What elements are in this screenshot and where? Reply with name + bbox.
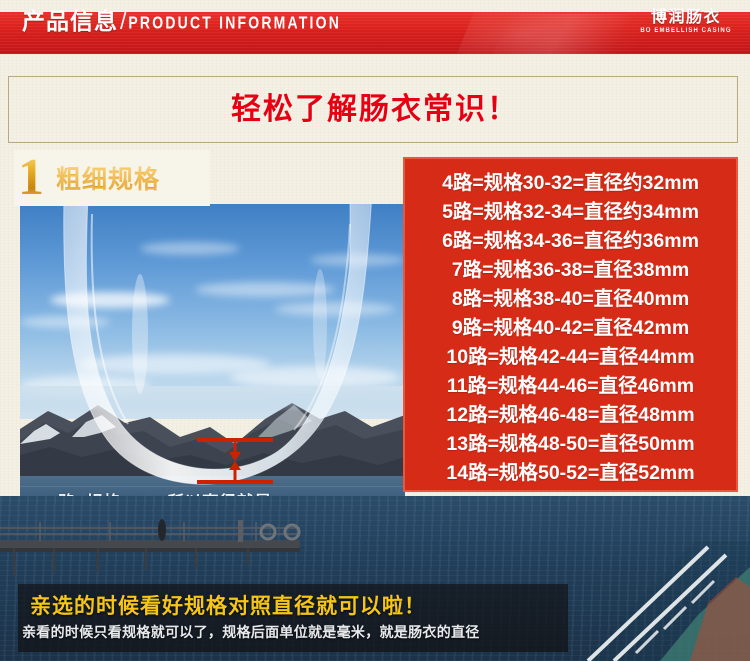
section-badge: 1 粗细规格 bbox=[14, 150, 210, 206]
specification-panel: 4路=规格30-32=直径约32mm 5路=规格32-34=直径约34mm 6路… bbox=[403, 157, 738, 492]
header-highlight-swoosh-secondary bbox=[489, 14, 630, 54]
brand-logo: 博润肠衣 BO EMBELLISH CASING bbox=[632, 3, 740, 39]
spec-row: 13路=规格48-50=直径50mm bbox=[405, 430, 736, 459]
header-title: 产品信息 / PRODUCT INFORMATION bbox=[22, 8, 341, 35]
spec-row: 14路=规格50-52=直径52mm bbox=[405, 459, 736, 488]
header-title-cn: 产品信息 bbox=[22, 8, 118, 34]
spec-row: 10路=规格42-44=直径44mm bbox=[405, 343, 736, 372]
bottom-subtext: 亲看的时候只看规格就可以了，规格后面单位就是毫米，就是肠衣的直径 bbox=[22, 622, 480, 642]
spec-row: 4路=规格30-32=直径约32mm bbox=[405, 169, 736, 198]
diameter-measurement-arrows bbox=[195, 435, 275, 487]
bottom-pier bbox=[0, 514, 360, 584]
spec-row: 11路=规格44-46=直径46mm bbox=[405, 372, 736, 401]
boat-railing bbox=[540, 541, 750, 661]
product-info-page: 产品信息 / PRODUCT INFORMATION 博润肠衣 BO EMBEL… bbox=[0, 0, 750, 661]
brand-logo-en: BO EMBELLISH CASING bbox=[640, 27, 731, 34]
spec-row: 9路=规格40-42=直径42mm bbox=[405, 314, 736, 343]
header-title-separator: / bbox=[120, 8, 126, 35]
header-title-en: PRODUCT INFORMATION bbox=[128, 12, 341, 32]
spec-row: 8路=规格38-40=直径40mm bbox=[405, 285, 736, 314]
bottom-headline: 亲选的时候看好规格对照直径就可以啦！ bbox=[30, 590, 426, 620]
page-title: 轻松了解肠衣常识！ bbox=[0, 84, 750, 128]
section-number: 1 bbox=[18, 152, 44, 204]
spec-row: 7路=规格36-38=直径38mm bbox=[405, 256, 736, 285]
spec-row: 5路=规格32-34=直径约34mm bbox=[405, 198, 736, 227]
section-label: 粗细规格 bbox=[56, 160, 160, 196]
brand-logo-cn: 博润肠衣 bbox=[651, 9, 721, 27]
spec-row: 6路=规格34-36=直径约36mm bbox=[405, 227, 736, 256]
spec-row: 12路=规格46-48=直径48mm bbox=[405, 401, 736, 430]
